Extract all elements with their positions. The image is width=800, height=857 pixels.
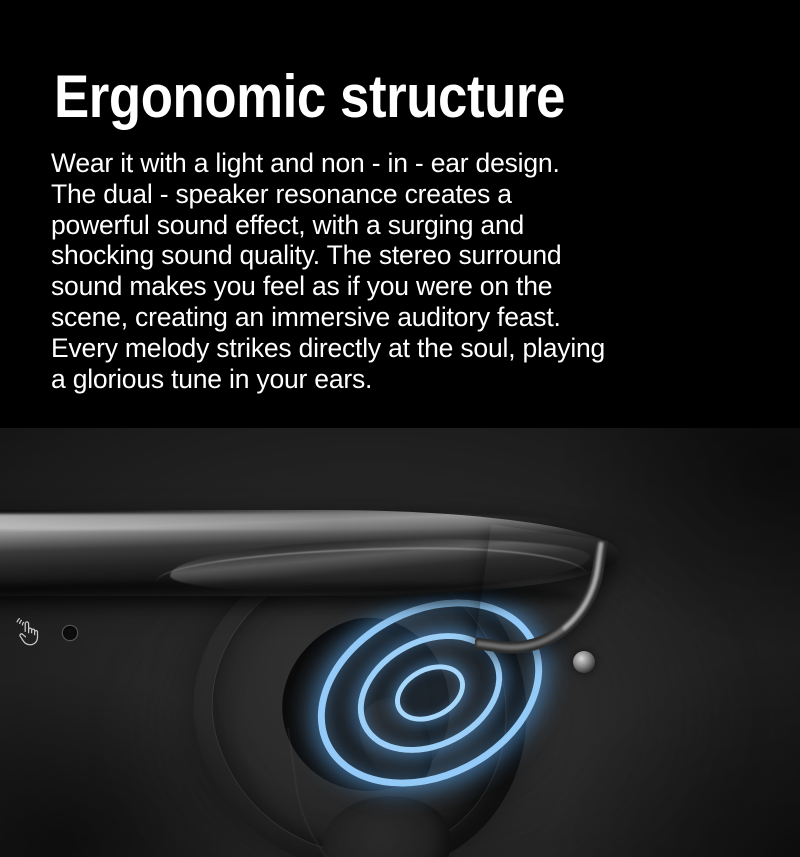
description-line: powerful sound effect, with a surging an… bbox=[51, 210, 731, 241]
description-line: Wear it with a light and non - in - ear … bbox=[51, 148, 731, 179]
description-line: Every melody strikes directly at the sou… bbox=[51, 333, 731, 364]
description-line: The dual - speaker resonance creates a bbox=[51, 179, 731, 210]
description-line: shocking sound quality. The stereo surro… bbox=[51, 240, 731, 271]
description-line: scene, creating an immersive auditory fe… bbox=[51, 302, 731, 333]
description-block: Wear it with a light and non - in - ear … bbox=[51, 148, 731, 394]
photo-vignette bbox=[0, 428, 800, 857]
description-line: a glorious tune in your ears. bbox=[51, 364, 731, 395]
description-line: sound makes you feel as if you were on t… bbox=[51, 271, 731, 302]
product-photo bbox=[0, 428, 800, 857]
product-detail-page: Ergonomic structure Wear it with a light… bbox=[0, 0, 800, 857]
page-title: Ergonomic structure bbox=[54, 66, 565, 128]
text-panel: Ergonomic structure Wear it with a light… bbox=[0, 0, 800, 428]
